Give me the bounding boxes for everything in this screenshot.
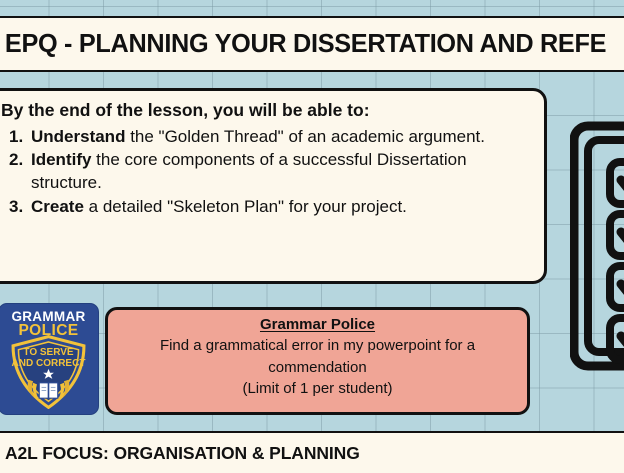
objectives-list: 1. Understand the "Golden Thread" of an … — [1, 126, 534, 218]
police-shield-icon: TO SERVE AND CORRECT — [10, 335, 87, 409]
clipboard-checklist-icon — [570, 120, 624, 372]
svg-text:TO SERVE: TO SERVE — [23, 347, 74, 358]
grammar-police-line-2: commendation — [108, 357, 527, 378]
list-item-text: the "Golden Thread" of an academic argum… — [125, 127, 485, 146]
page-title: EPQ - PLANNING YOUR DISSERTATION AND REF… — [0, 30, 606, 59]
grammar-police-title: Grammar Police — [108, 315, 527, 335]
list-item: 1. Understand the "Golden Thread" of an … — [1, 126, 534, 149]
slide-title-bar: EPQ - PLANNING YOUR DISSERTATION AND REF… — [0, 16, 624, 72]
grammar-police-line-1: Find a grammatical error in my powerpoin… — [108, 335, 527, 356]
list-item-number: 2. — [9, 149, 23, 172]
list-item: 2. Identify the core components of a suc… — [1, 149, 534, 194]
list-item-keyword: Create — [31, 197, 84, 216]
objectives-heading: By the end of the lesson, you will be ab… — [1, 100, 534, 122]
list-item-keyword: Identify — [31, 150, 91, 169]
list-item-keyword: Understand — [31, 127, 125, 146]
slide-footer-bar: A2L FOCUS: ORGANISATION & PLANNING — [0, 431, 624, 473]
grammar-police-message-box: Grammar Police Find a grammatical error … — [105, 307, 530, 415]
grammar-police-line-3: (Limit of 1 per student) — [108, 378, 527, 399]
list-item-number: 3. — [9, 196, 23, 219]
list-item-text: a detailed "Skeleton Plan" for your proj… — [84, 197, 407, 216]
learning-objectives-card: By the end of the lesson, you will be ab… — [0, 88, 547, 284]
footer-label: A2L FOCUS: ORGANISATION & PLANNING — [0, 443, 360, 464]
list-item: 3. Create a detailed "Skeleton Plan" for… — [1, 196, 534, 219]
list-item-number: 1. — [9, 126, 23, 149]
list-item-text: the core components of a successful Diss… — [31, 150, 467, 192]
grammar-police-badge: GRAMMAR POLICE TO SERVE AND CORRECT — [0, 303, 99, 415]
svg-text:AND CORRECT: AND CORRECT — [12, 358, 86, 369]
